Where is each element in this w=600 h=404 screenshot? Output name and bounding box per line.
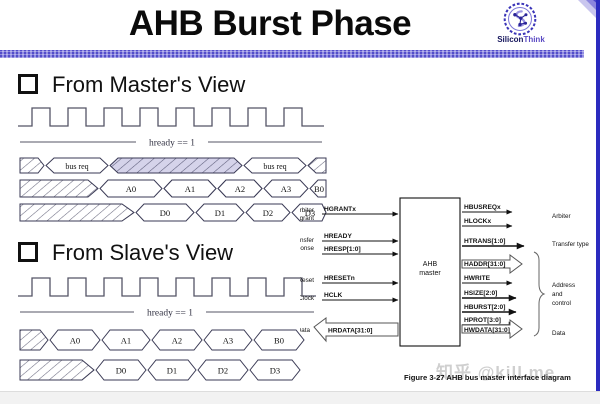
data-cell-2: D2	[263, 208, 273, 218]
data-cell-3: D3	[270, 366, 280, 376]
group-label-transfer-response-1: Transfer	[300, 237, 314, 244]
signal-hresetn: HRESETn	[322, 275, 398, 283]
hready-label: hready == 1	[149, 139, 195, 149]
data-cell-0: D0	[160, 208, 170, 218]
bottom-strip	[0, 391, 600, 404]
address-cell-0: A0	[126, 184, 136, 194]
block-label-line2: master	[419, 270, 441, 277]
group-label-reset: Reset	[300, 277, 314, 284]
signal-hgrantx: HGRANTx	[322, 206, 398, 214]
data-cell-2: D2	[218, 366, 228, 376]
hready-indicator: hready == 1	[20, 305, 314, 319]
bus-req-label-1: bus req	[65, 162, 88, 171]
logo-wordmark: SiliconThink	[489, 35, 553, 44]
bus-request-row: bus req bus req	[20, 158, 326, 173]
header-divider-band	[0, 50, 584, 58]
signal-label: HWDATA[31:0]	[464, 327, 510, 334]
signal-label: HBURST[2:0]	[464, 304, 505, 311]
signal-haddr: HADDR[31:0]	[462, 255, 522, 273]
signal-hburst: HBURST[2:0]	[462, 304, 516, 312]
section-heading-master-label: From Master's View	[52, 72, 245, 97]
signal-hclk: HCLK	[322, 292, 398, 300]
group-label-arbiter-grant-2: grant	[300, 215, 314, 222]
signal-hrdata: HRDATA[31:0]	[314, 318, 398, 341]
signal-hready: HREADY	[322, 233, 398, 241]
signal-label: HPROT[3:0]	[464, 317, 501, 324]
signal-label: HRDATA[31:0]	[328, 328, 372, 335]
group-label-control: control	[552, 300, 571, 307]
group-label-arbiter-grant-1: Arbiter	[300, 207, 314, 214]
signal-label: HREADY	[324, 233, 352, 240]
page-title: AHB Burst Phase	[60, 2, 480, 46]
group-label-transfer-type: Transfer type	[552, 241, 589, 248]
data-cell-0: D0	[116, 366, 126, 376]
bus-req-label-2: bus req	[263, 162, 286, 171]
section-heading-master: From Master's View	[18, 72, 245, 98]
signal-hlockx: HLOCKx	[462, 218, 512, 226]
bullet-square-icon	[18, 74, 38, 94]
signal-htrans: HTRANS[1:0]	[462, 238, 524, 246]
group-label-data-right: Data	[552, 330, 566, 337]
signal-label: HRESETn	[324, 275, 355, 282]
slide-root: AHB Burst Phase SiliconThink From Master…	[0, 0, 600, 404]
block-label-line1: AHB	[423, 261, 438, 268]
master-waveform: hready == 1 bus req bus req	[14, 102, 330, 230]
signal-label: HWRITE	[464, 275, 491, 282]
data-row: D0 D1 D2 D3	[20, 360, 300, 380]
signal-hprot: HPROT[3:0]	[462, 317, 516, 325]
address-control-brace	[534, 252, 544, 336]
address-row: A0 A1 A2 A3 B0	[20, 330, 304, 350]
signal-label: HTRANS[1:0]	[464, 238, 505, 245]
logo-text-silicon: Silicon	[497, 35, 523, 44]
signal-hsize: HSIZE[2:0]	[462, 290, 516, 298]
signal-label: HLOCKx	[464, 218, 491, 225]
address-cell-2: A2	[235, 184, 245, 194]
address-cell-1: A1	[121, 336, 131, 346]
address-cell-1: A1	[185, 184, 195, 194]
signal-label: HADDR[31:0]	[464, 261, 505, 268]
address-cell-2: A2	[172, 336, 182, 346]
group-label-transfer-response-2: response	[300, 245, 314, 252]
group-label-and: and	[552, 291, 563, 298]
address-cell-4: B0	[274, 336, 284, 346]
address-cell-3: A3	[223, 336, 233, 346]
data-row: D0 D1 D2 D3	[20, 204, 326, 221]
signal-hbusreqx: HBUSREQx	[462, 204, 512, 212]
hready-label: hready == 1	[147, 309, 193, 319]
signal-hwrite: HWRITE	[462, 275, 512, 283]
logo-text-think: Think	[523, 35, 544, 44]
address-cell-3: A3	[281, 184, 291, 194]
signal-label: HRESP[1:0]	[324, 246, 361, 253]
section-heading-slave: From Slave's View	[18, 240, 233, 266]
data-cell-1: D1	[167, 366, 177, 376]
signal-label: HCLK	[324, 292, 343, 299]
signal-hresp: HRESP[1:0]	[322, 246, 398, 254]
address-cell-0: A0	[70, 336, 80, 346]
address-row: A0 A1 A2 A3 B0	[20, 180, 326, 197]
clock-waveform	[18, 278, 316, 296]
slave-waveform: hready == 1 A0 A1 A2 A3 B0	[14, 272, 330, 392]
bullet-square-icon	[18, 242, 38, 262]
data-cell-1: D1	[215, 208, 225, 218]
section-heading-slave-label: From Slave's View	[52, 240, 233, 265]
hready-indicator: hready == 1	[20, 135, 322, 149]
group-label-clock: Clock	[300, 295, 315, 302]
signal-label: HSIZE[2:0]	[464, 290, 497, 297]
signal-label: HBUSREQx	[464, 204, 501, 211]
siliconthink-logo: SiliconThink	[489, 2, 553, 48]
figure-caption: Figure 3-27 AHB bus master interface dia…	[404, 373, 594, 382]
group-label-data-left: Data	[300, 327, 310, 334]
clock-waveform	[18, 108, 324, 126]
group-label-arbiter-right: Arbiter	[552, 213, 571, 220]
logo-badge-icon	[503, 2, 537, 36]
corner-decoration-icon	[560, 0, 600, 30]
group-label-address: Address	[552, 282, 575, 289]
signal-label: HGRANTx	[324, 206, 356, 213]
